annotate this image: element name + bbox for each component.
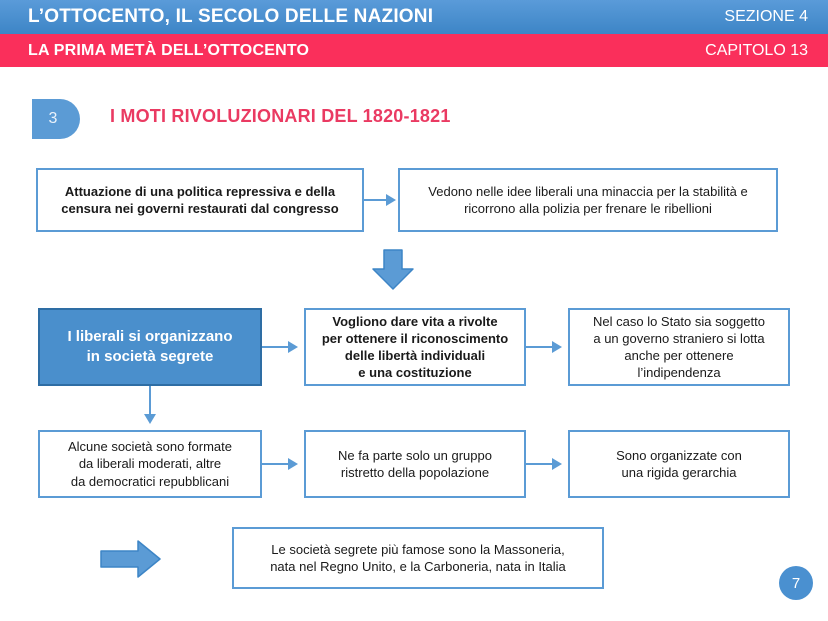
section-header-bar: L’OTTOCENTO, IL SECOLO DELLE NAZIONI SEZ… bbox=[0, 0, 828, 34]
chapter-header-bar: LA PRIMA METÀ DELL’OTTOCENTO CAPITOLO 13 bbox=[0, 34, 828, 67]
down-block-arrow-icon bbox=[371, 249, 415, 291]
flow-box-gerarchia: Sono organizzate con una rigida gerarchi… bbox=[568, 430, 790, 498]
right-block-arrow-icon bbox=[100, 540, 162, 578]
flow-box-minaccia-liberali: Vedono nelle idee liberali una minaccia … bbox=[398, 168, 778, 232]
flow-box-rivolte-costituzione: Vogliono dare vita a rivolte per ottener… bbox=[304, 308, 526, 386]
chapter-label: CAPITOLO 13 bbox=[705, 42, 808, 60]
flow-box-gruppo-ristretto: Ne fa parte solo un gruppo ristretto del… bbox=[304, 430, 526, 498]
page-number-badge: 7 bbox=[779, 566, 813, 600]
slide-number-badge: 3 bbox=[32, 99, 80, 139]
flow-box-repressione: Attuazione di una politica repressiva e … bbox=[36, 168, 364, 232]
page-title: I MOTI RIVOLUZIONARI DEL 1820-1821 bbox=[110, 106, 451, 127]
section-label: SEZIONE 4 bbox=[724, 8, 808, 26]
chapter-title: LA PRIMA METÀ DELL’OTTOCENTO bbox=[28, 42, 309, 60]
flow-box-massoneria-carboneria: Le società segrete più famose sono la Ma… bbox=[232, 527, 604, 589]
flow-box-indipendenza: Nel caso lo Stato sia soggetto a un gove… bbox=[568, 308, 790, 386]
book-title: L’OTTOCENTO, IL SECOLO DELLE NAZIONI bbox=[28, 6, 433, 28]
flow-box-societa-segrete: I liberali si organizzano in società seg… bbox=[38, 308, 262, 386]
flow-box-moderati-repubblicani: Alcune società sono formate da liberali … bbox=[38, 430, 262, 498]
